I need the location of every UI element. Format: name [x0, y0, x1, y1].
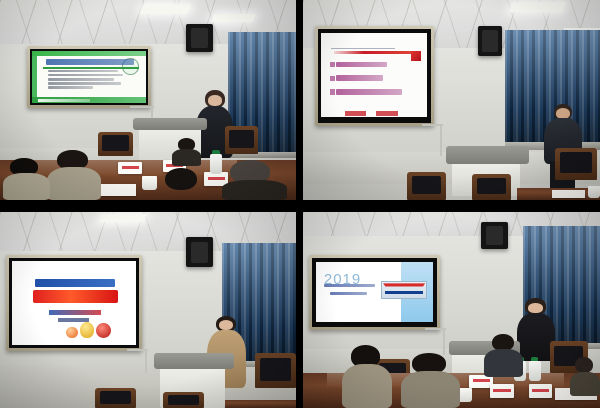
- lectern-top: [133, 118, 207, 130]
- projector-arm: [145, 349, 147, 373]
- projection-screen: 2019: [312, 258, 437, 326]
- projection-screen-frame: [27, 46, 151, 108]
- lectern-top: [446, 146, 529, 164]
- wall-speaker-icon: [186, 237, 213, 266]
- name-placard: [490, 384, 514, 398]
- slide-subtitle: [35, 279, 115, 287]
- collage-panel-top-left: [0, 0, 296, 200]
- water-bottle: [210, 154, 222, 174]
- wall-speaker-icon: [186, 24, 213, 52]
- ceiling-light: [99, 214, 147, 222]
- audience-member: [570, 357, 600, 396]
- audience-body: [570, 372, 600, 396]
- chair: [95, 388, 136, 408]
- slide-logo-mark: [411, 51, 421, 61]
- slide-footer-left: [345, 111, 366, 115]
- chair: [225, 126, 258, 154]
- slide-bullet: [336, 62, 387, 68]
- slide-top-bar: [32, 51, 146, 56]
- slide-body-line: [48, 74, 123, 77]
- wall-speaker-icon: [481, 222, 508, 249]
- audience-member: [157, 168, 207, 200]
- slide-bullet: [336, 75, 383, 81]
- bottle-cap: [531, 357, 539, 361]
- audience-body: [342, 364, 392, 408]
- water-bottle: [529, 361, 541, 381]
- slide-inset-photo: [381, 281, 427, 299]
- audience-member: [401, 353, 460, 408]
- audience-body: [484, 349, 523, 377]
- ceiling-light: [211, 14, 256, 22]
- projection-screen: [9, 258, 139, 348]
- presenter-face: [528, 303, 543, 313]
- projection-screen: [30, 49, 148, 105]
- collage-panel-bottom-left: [0, 212, 296, 408]
- slide-presenter-line: [49, 310, 102, 315]
- audience-member: [3, 158, 50, 200]
- chair: [255, 353, 296, 388]
- paper-cup: [588, 186, 600, 198]
- paper-cup: [142, 176, 157, 190]
- name-placard: [529, 384, 553, 398]
- collage-panel-top-right: [303, 0, 600, 200]
- collage-panel-bottom-right: 2019: [303, 212, 600, 408]
- audience-member: [484, 334, 523, 377]
- chair: [98, 132, 134, 156]
- ceiling-light: [140, 4, 192, 14]
- photo-collage: 2019: [0, 0, 600, 408]
- slide-footer-right: [376, 111, 397, 115]
- slide-bullet-number: [330, 89, 335, 94]
- conference-table: [225, 400, 296, 408]
- slide-title: [33, 290, 118, 303]
- audience-body: [47, 167, 100, 201]
- audience-body: [3, 173, 50, 200]
- fruit-hawthorn-icon: [96, 323, 111, 338]
- slide-heading-underline: [43, 67, 138, 69]
- slide-body-line: [48, 78, 114, 81]
- audience-member: [47, 150, 100, 200]
- slide-body-line: [48, 86, 93, 89]
- audience-head: [165, 168, 197, 190]
- projector-arm: [440, 124, 442, 156]
- bottle-cap: [212, 150, 220, 154]
- projection-screen: [318, 29, 431, 123]
- slide-line-1: [324, 284, 376, 287]
- audience-body: [172, 149, 202, 166]
- slide-content: [321, 33, 427, 118]
- slide-heading: [46, 59, 135, 65]
- chair: [407, 172, 446, 200]
- slide-body-line: [48, 82, 121, 85]
- fruit-pear-icon: [80, 322, 94, 338]
- slide-side-bar: [32, 56, 37, 97]
- projector-arm: [425, 328, 446, 330]
- audience-member: [222, 160, 287, 200]
- slide-content: 2019: [316, 262, 433, 322]
- slide-body-line: [48, 70, 118, 73]
- projection-screen-frame: [6, 255, 142, 351]
- slide-accent-rule: [334, 51, 419, 54]
- slide-footer: [38, 99, 90, 102]
- audience-body: [222, 180, 287, 200]
- fruit-peach-icon: [66, 327, 77, 338]
- lectern-top: [154, 353, 234, 369]
- slide-bullet: [336, 89, 402, 95]
- ceiling-light: [509, 2, 566, 12]
- projector-arm: [130, 106, 154, 108]
- red-swag-decor: [383, 283, 425, 290]
- chair: [163, 392, 204, 408]
- projection-screen-frame: 2019: [309, 255, 440, 329]
- chair: [555, 148, 597, 180]
- audience-body: [401, 371, 460, 408]
- slide-content: [32, 51, 146, 103]
- name-placard: [118, 162, 142, 174]
- projection-screen-frame: [315, 26, 434, 126]
- audience-member: [172, 138, 202, 166]
- notepad: [552, 190, 585, 198]
- slide-bullet-number: [330, 76, 335, 81]
- presenter-face: [208, 95, 222, 106]
- red-banner: [385, 291, 424, 294]
- chair: [472, 174, 511, 200]
- audience-member: [342, 345, 392, 408]
- slide-thin-rule: [331, 48, 396, 49]
- slide-bullet-number: [330, 62, 335, 67]
- projector-arm: [127, 349, 148, 351]
- projector-arm: [422, 124, 443, 126]
- slide-content: [12, 261, 137, 346]
- projector-arm: [443, 328, 445, 355]
- slide-line-2: [330, 292, 368, 295]
- wall-speaker-icon: [478, 26, 502, 56]
